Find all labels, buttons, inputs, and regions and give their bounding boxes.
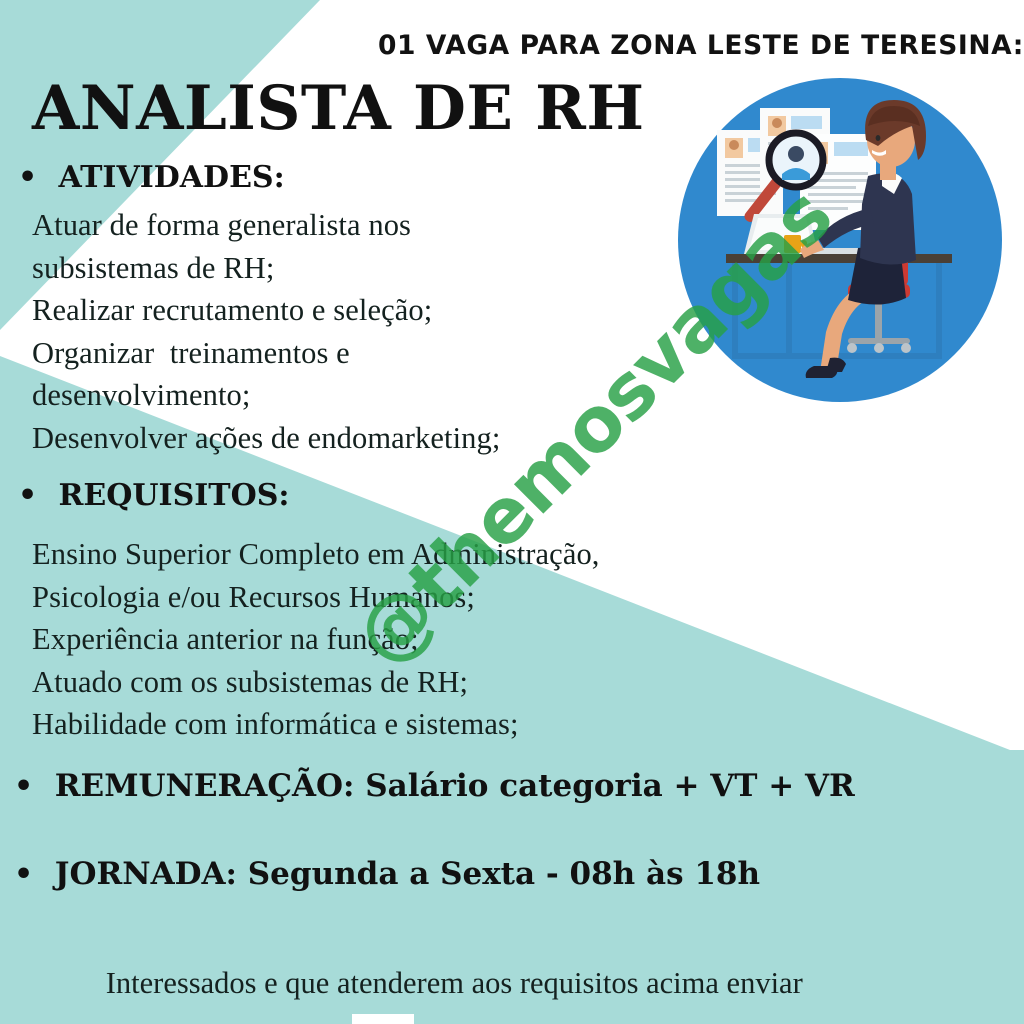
poster-content: 01 VAGA PARA ZONA LESTE DE TERESINA: ANA… [0,0,1024,1024]
list-item: Psicologia e/ou Recursos Humanos; [32,576,600,619]
footer-line-1: Interessados e que atenderem aos requisi… [106,966,803,1000]
application-instructions: Interessados e que atenderem aos requisi… [60,922,1010,1024]
list-item: Organizar treinamentos e [32,332,500,375]
page-title: ANALISTA DE RH [32,78,644,139]
jornada-text: JORNADA: Segunda a Sexta - 08h às 18h [55,856,760,892]
list-item: subsistemas de RH; [32,247,500,290]
bullet-icon: • [18,478,48,513]
bullet-icon: • [14,769,44,804]
list-item: Desenvolver ações de endomarketing; [32,417,500,460]
atividades-list: Atuar de forma generalista nossubsistema… [32,204,500,459]
requisitos-list: Ensino Superior Completo em Administraçã… [32,533,600,746]
atividades-heading: • ATIVIDADES: [18,160,285,195]
list-item: Realizar recrutamento e seleção; [32,289,500,332]
jornada-line: • JORNADA: Segunda a Sexta - 08h às 18h [14,856,760,892]
job-posting-poster: 01 VAGA PARA ZONA LESTE DE TERESINA: ANA… [0,0,1024,1024]
remuneracao-line: • REMUNERAÇÃO: Salário categoria + VT + … [14,768,855,804]
list-item: desenvolvimento; [32,374,500,417]
kicker-headline: 01 VAGA PARA ZONA LESTE DE TERESINA: [378,30,1024,61]
remuneracao-text: REMUNERAÇÃO: Salário categoria + VT + VR [55,768,855,804]
requisitos-heading: • REQUISITOS: [18,478,289,513]
atividades-heading-label: ATIVIDADES: [58,160,284,195]
list-item: Habilidade com informática e sistemas; [32,703,600,746]
requisitos-heading-label: REQUISITOS: [58,478,289,513]
bottom-white-notch [352,1014,414,1024]
bullet-icon: • [14,857,44,892]
list-item: Atuar de forma generalista nos [32,204,500,247]
list-item: Ensino Superior Completo em Administraçã… [32,533,600,576]
list-item: Experiência anterior na função; [32,618,600,661]
bullet-icon: • [18,160,48,195]
list-item: Atuado com os subsistemas de RH; [32,661,600,704]
